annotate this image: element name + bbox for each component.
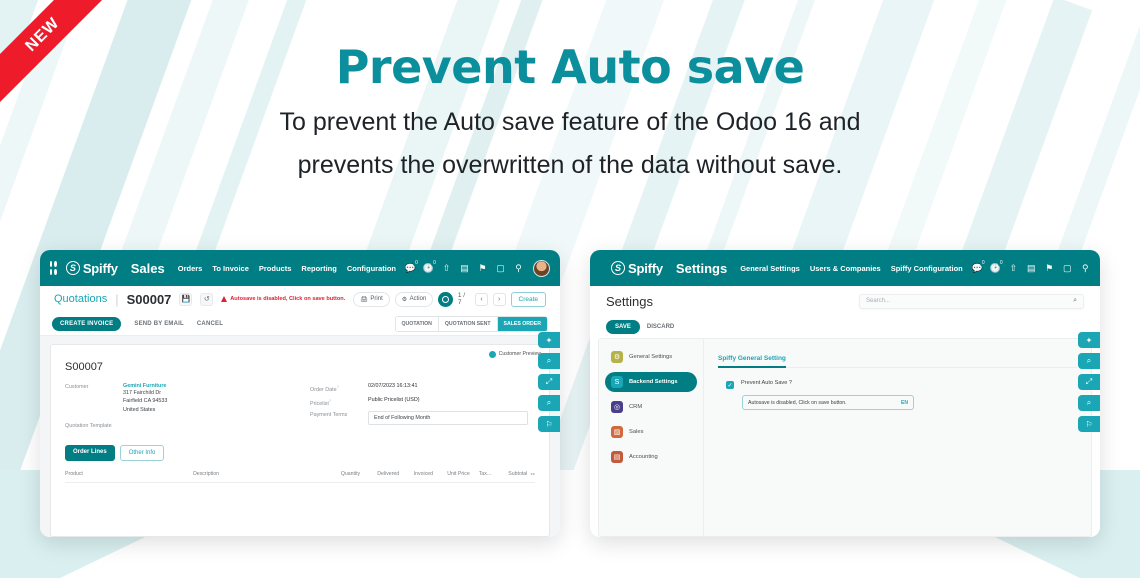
avatar[interactable] [533, 260, 550, 277]
search-icon[interactable]: ⌕ [538, 353, 560, 369]
field-order-date-label: Order Date? [310, 383, 368, 393]
debug-icon[interactable]: ⚑ [1044, 263, 1055, 274]
stage-bar: QUOTATION QUOTATION SENT SALES ORDER [395, 316, 548, 332]
settings-appbar: S Spiffy Settings General Settings Users… [590, 250, 1100, 286]
customer-address-line-1: 317 Fairchild Dr [123, 389, 167, 397]
activities-icon[interactable]: 🕑0 [990, 263, 1001, 274]
zoom-icon[interactable]: ⌕ [538, 395, 560, 411]
th-invoiced: Invoiced [414, 471, 448, 477]
globe-icon [489, 351, 496, 358]
settings-main: Spiffy General Setting ✓ Prevent Auto Sa… [704, 339, 1091, 536]
settings-nav: ⚙ General Settings S Backend Settings ◎ … [599, 339, 704, 536]
settings-body: ⚙ General Settings S Backend Settings ◎ … [598, 338, 1092, 537]
th-tax: Tax... [479, 471, 509, 477]
debug-icon[interactable]: ⚑ [477, 263, 488, 274]
create-invoice-button[interactable]: CREATE INVOICE [52, 317, 121, 331]
th-product: Product [65, 471, 193, 477]
sales-menu: Orders To Invoice Products Reporting Con… [178, 264, 396, 273]
upgrade-icon[interactable]: ⇧ [1008, 263, 1019, 274]
stage-quotation[interactable]: QUOTATION [396, 317, 439, 331]
prevent-auto-save-option: ✓ Prevent Auto Save ? [718, 380, 1077, 389]
brand-name: Spiffy [628, 261, 663, 276]
app-name: Sales [131, 261, 165, 276]
search-input[interactable]: Search... ⌕ [859, 294, 1084, 309]
sales-screenshot: S Spiffy Sales Orders To Invoice Product… [40, 250, 560, 537]
customer-preview-label: Customer Preview [499, 352, 541, 358]
menu-item-reporting[interactable]: Reporting [301, 264, 336, 273]
record-indicator-icon[interactable] [438, 292, 453, 307]
order-lines-table-header: Product Description Quantity Delivered I… [65, 471, 535, 483]
tab-order-lines[interactable]: Order Lines [65, 445, 115, 461]
note-icon[interactable]: ▢ [1062, 263, 1073, 274]
search-icon[interactable]: ⌕ [1073, 297, 1077, 305]
star-icon[interactable]: ✦ [538, 332, 560, 348]
settings-action-bar: SAVE DISCARD [590, 316, 1100, 338]
sidebar-item-label: General Settings [629, 354, 672, 360]
prevent-auto-save-checkbox[interactable]: ✓ [726, 381, 734, 389]
action-button[interactable]: ⚙ Action [395, 292, 434, 307]
discard-button[interactable]: DISCARD [647, 324, 674, 330]
column-options-icon[interactable]: ⚏ [530, 471, 535, 477]
search-icon[interactable]: ⌕ [1078, 353, 1100, 369]
sidebar-item-label: Backend Settings [629, 379, 678, 385]
apps-icon[interactable]: ▤ [1026, 263, 1037, 274]
section-title: Spiffy General Setting [718, 355, 786, 368]
breadcrumb: Quotations | S00007 💾 ↺ Autosave is disa… [40, 286, 560, 312]
cancel-button[interactable]: CANCEL [197, 321, 223, 327]
field-pricelist: Pricelist? Public Pricelist (USD) [310, 397, 535, 407]
messages-icon[interactable]: 💬0 [405, 263, 416, 274]
record-title: S00007 [65, 361, 535, 373]
field-pricelist-value[interactable]: Public Pricelist (USD) [368, 397, 420, 407]
th-quantity: Quantity [341, 471, 377, 477]
menu-item-to-invoice[interactable]: To Invoice [212, 264, 249, 273]
spiffy-logo-icon: S [611, 261, 625, 275]
app-name: Settings [676, 261, 727, 276]
send-by-email-button[interactable]: SEND BY EMAIL [134, 321, 184, 327]
location-icon[interactable]: ⚲ [1080, 263, 1091, 274]
action-label: Action [410, 296, 427, 302]
search-placeholder: Search... [866, 298, 890, 304]
sales-statusbar: CREATE INVOICE SEND BY EMAIL CANCEL QUOT… [40, 312, 560, 336]
autosave-warning-text: Autosave is disabled, Click on save butt… [230, 296, 345, 302]
sales-sheet: Customer Preview S00007 Customer Gemini … [50, 344, 550, 537]
field-order-date-value[interactable]: 02/07/2023 16:13:41 [368, 383, 417, 393]
form-right-column: Order Date? 02/07/2023 16:13:41 Pricelis… [310, 383, 535, 433]
th-description: Description [193, 471, 341, 477]
brand-logo[interactable]: S Spiffy [66, 261, 118, 276]
warning-triangle-icon [221, 296, 227, 302]
sales-icon: ▨ [611, 426, 623, 438]
brand-logo[interactable]: S Spiffy [611, 261, 663, 276]
language-tag: EN [901, 400, 908, 406]
brand-name: Spiffy [83, 261, 118, 276]
upgrade-icon[interactable]: ⇧ [441, 263, 452, 274]
settings-menu: General Settings Users & Companies Spiff… [740, 264, 963, 273]
form-left-column: Customer Gemini Furniture 317 Fairchild … [65, 383, 290, 433]
breadcrumb-separator: | [115, 292, 118, 307]
apps-grid-icon[interactable] [600, 261, 602, 275]
sidebar-item-sales[interactable]: ▨ Sales [605, 422, 697, 442]
gear-icon: ⚙ [402, 296, 407, 303]
expand-icon[interactable]: ⤢ [1078, 374, 1100, 390]
menu-item-spiffy-configuration[interactable]: Spiffy Configuration [891, 264, 963, 273]
menu-item-users-companies[interactable]: Users & Companies [810, 264, 881, 273]
sidebar-item-accounting[interactable]: ▤ Accounting [605, 447, 697, 467]
subtitle-line-2: prevents the overwritten of the data wit… [0, 151, 1140, 180]
print-button[interactable]: 🖨 Print [353, 292, 389, 307]
field-order-date: Order Date? 02/07/2023 16:13:41 [310, 383, 535, 393]
sidebar-item-backend-settings[interactable]: S Backend Settings [605, 372, 697, 392]
stage-sales-order[interactable]: SALES ORDER [498, 317, 547, 331]
sidebar-item-crm[interactable]: ◎ CRM [605, 397, 697, 417]
sheet-tabs: Order Lines Other Info [65, 445, 535, 461]
sales-sheet-container: Customer Preview S00007 Customer Gemini … [40, 336, 560, 537]
menu-item-configuration[interactable]: Configuration [347, 264, 396, 273]
prevent-auto-save-label: Prevent Auto Save ? [741, 380, 792, 386]
field-customer: Customer Gemini Furniture 317 Fairchild … [65, 383, 290, 414]
bookmark-icon[interactable]: ⚐ [538, 416, 560, 432]
sidebar-item-label: CRM [629, 404, 642, 410]
save-button[interactable]: SAVE [606, 320, 640, 334]
sidebar-item-general-settings[interactable]: ⚙ General Settings [605, 347, 697, 367]
apps-icon[interactable]: ▤ [459, 263, 470, 274]
sidebar-item-label: Accounting [629, 454, 658, 460]
breadcrumb-actions: 🖨 Print ⚙ Action 1 / 7 ‹ › Create [353, 292, 546, 307]
star-icon[interactable]: ✦ [1078, 332, 1100, 348]
settings-page-title: Settings [606, 294, 653, 309]
expand-icon[interactable]: ⤢ [538, 374, 560, 390]
crm-icon: ◎ [611, 401, 623, 413]
pager-count: 1 / 7 [458, 292, 470, 306]
autosave-message-value: Autosave is disabled, Click on save butt… [748, 400, 847, 406]
field-pricelist-label: Pricelist? [310, 397, 368, 407]
settings-header: Settings Search... ⌕ [590, 286, 1100, 316]
save-icon[interactable]: 💾 [179, 293, 192, 306]
th-subtotal: Subtotal [508, 471, 527, 477]
field-quotation-template: Quotation Template [65, 422, 290, 429]
field-payment-terms-input[interactable]: End of Following Month [368, 411, 528, 425]
print-icon: 🖨 [360, 296, 368, 303]
activities-icon[interactable]: 🕑0 [423, 263, 434, 274]
bookmark-icon[interactable]: ⚐ [1078, 416, 1100, 432]
sidebar-item-label: Sales [629, 429, 644, 435]
accounting-icon: ▤ [611, 451, 623, 463]
menu-item-products[interactable]: Products [259, 264, 292, 273]
sales-system-icons: 💬0 🕑0 ⇧ ▤ ⚑ ▢ ⚲ [405, 260, 550, 277]
discard-undo-icon[interactable]: ↺ [200, 293, 213, 306]
previous-record-button[interactable]: ‹ [475, 293, 488, 306]
settings-side-tabs: ✦ ⌕ ⤢ ⌕ ⚐ [1078, 332, 1100, 432]
print-label: Print [370, 296, 382, 302]
customer-address-line-3: United States [123, 406, 167, 414]
create-button[interactable]: Create [511, 292, 547, 307]
new-ribbon: NEW [0, 0, 120, 120]
new-ribbon-label: NEW [22, 14, 63, 55]
breadcrumb-parent[interactable]: Quotations [54, 293, 107, 305]
zoom-icon[interactable]: ⌕ [1078, 395, 1100, 411]
page-title: Prevent Auto save [0, 40, 1140, 94]
customer-address-line-2: Fairfield CA 94533 [123, 397, 167, 405]
menu-item-general-settings[interactable]: General Settings [740, 264, 800, 273]
gear-icon: ⚙ [611, 351, 623, 363]
note-icon[interactable]: ▢ [495, 263, 506, 274]
settings-screenshot: S Spiffy Settings General Settings Users… [590, 250, 1100, 537]
sales-appbar: S Spiffy Sales Orders To Invoice Product… [40, 250, 560, 286]
tab-other-info[interactable]: Other Info [120, 445, 165, 461]
field-customer-label: Customer [65, 383, 123, 414]
next-record-button[interactable]: › [493, 293, 506, 306]
stage-quotation-sent[interactable]: QUOTATION SENT [439, 317, 498, 331]
field-customer-value[interactable]: Gemini Furniture 317 Fairchild Dr Fairfi… [123, 383, 167, 414]
settings-system-icons: 💬0 🕑0 ⇧ ▤ ⚑ ▢ ⚲ [972, 260, 1100, 277]
subtitle-line-1: To prevent the Auto save feature of the … [0, 108, 1140, 137]
autosave-message-input[interactable]: Autosave is disabled, Click on save butt… [742, 395, 914, 410]
sales-side-tabs: ✦ ⌕ ⤢ ⌕ ⚐ [538, 332, 560, 432]
form-grid: Customer Gemini Furniture 317 Fairchild … [65, 383, 535, 433]
th-unit-price: Unit Price [447, 471, 479, 477]
autosave-warning: Autosave is disabled, Click on save butt… [221, 296, 345, 302]
messages-icon[interactable]: 💬0 [972, 263, 983, 274]
headline-block: Prevent Auto save To prevent the Auto sa… [0, 40, 1140, 180]
menu-item-orders[interactable]: Orders [178, 264, 203, 273]
location-icon[interactable]: ⚲ [513, 263, 524, 274]
field-payment-terms-label: Payment Terms [310, 411, 368, 425]
th-delivered: Delivered [377, 471, 413, 477]
apps-grid-icon[interactable] [50, 261, 57, 275]
customer-preview-button[interactable]: Customer Preview [489, 351, 541, 358]
breadcrumb-current: S00007 [127, 292, 172, 307]
field-quotation-template-label: Quotation Template [65, 422, 112, 429]
spiffy-logo-icon: S [66, 261, 80, 275]
spiffy-icon: S [611, 376, 623, 388]
field-payment-terms: Payment Terms End of Following Month [310, 411, 535, 425]
